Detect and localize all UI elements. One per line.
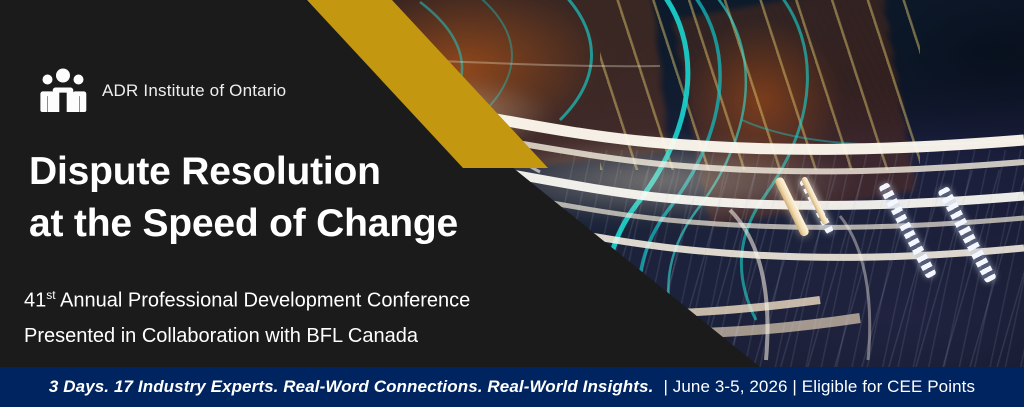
page-title: Dispute Resolution at the Speed of Chang… [29, 146, 458, 250]
headline-line-1: Dispute Resolution [29, 146, 458, 198]
conference-number: 41 [24, 290, 46, 312]
footer-details: | June 3-5, 2026 | Eligible for CEE Poin… [663, 377, 975, 397]
collaboration-line: Presented in Collaboration with BFL Cana… [24, 319, 470, 354]
conference-ordinal: st [46, 288, 55, 302]
conference-rest: Annual Professional Development Conferen… [56, 290, 471, 312]
logo-lockup: ADR Institute of Ontario [38, 66, 286, 116]
subheading-group: 41st Annual Professional Development Con… [24, 278, 470, 354]
organization-name: ADR Institute of Ontario [102, 81, 286, 101]
conference-edition-line: 41st Annual Professional Development Con… [24, 278, 470, 319]
conference-promo-banner: ADR Institute of Ontario Dispute Resolut… [0, 0, 1024, 407]
three-people-group-icon [38, 66, 88, 116]
footer-tagline: 3 Days. 17 Industry Experts. Real-Word C… [49, 377, 654, 397]
footer-bar: 3 Days. 17 Industry Experts. Real-Word C… [0, 367, 1024, 407]
headline-line-2: at the Speed of Change [29, 198, 458, 250]
